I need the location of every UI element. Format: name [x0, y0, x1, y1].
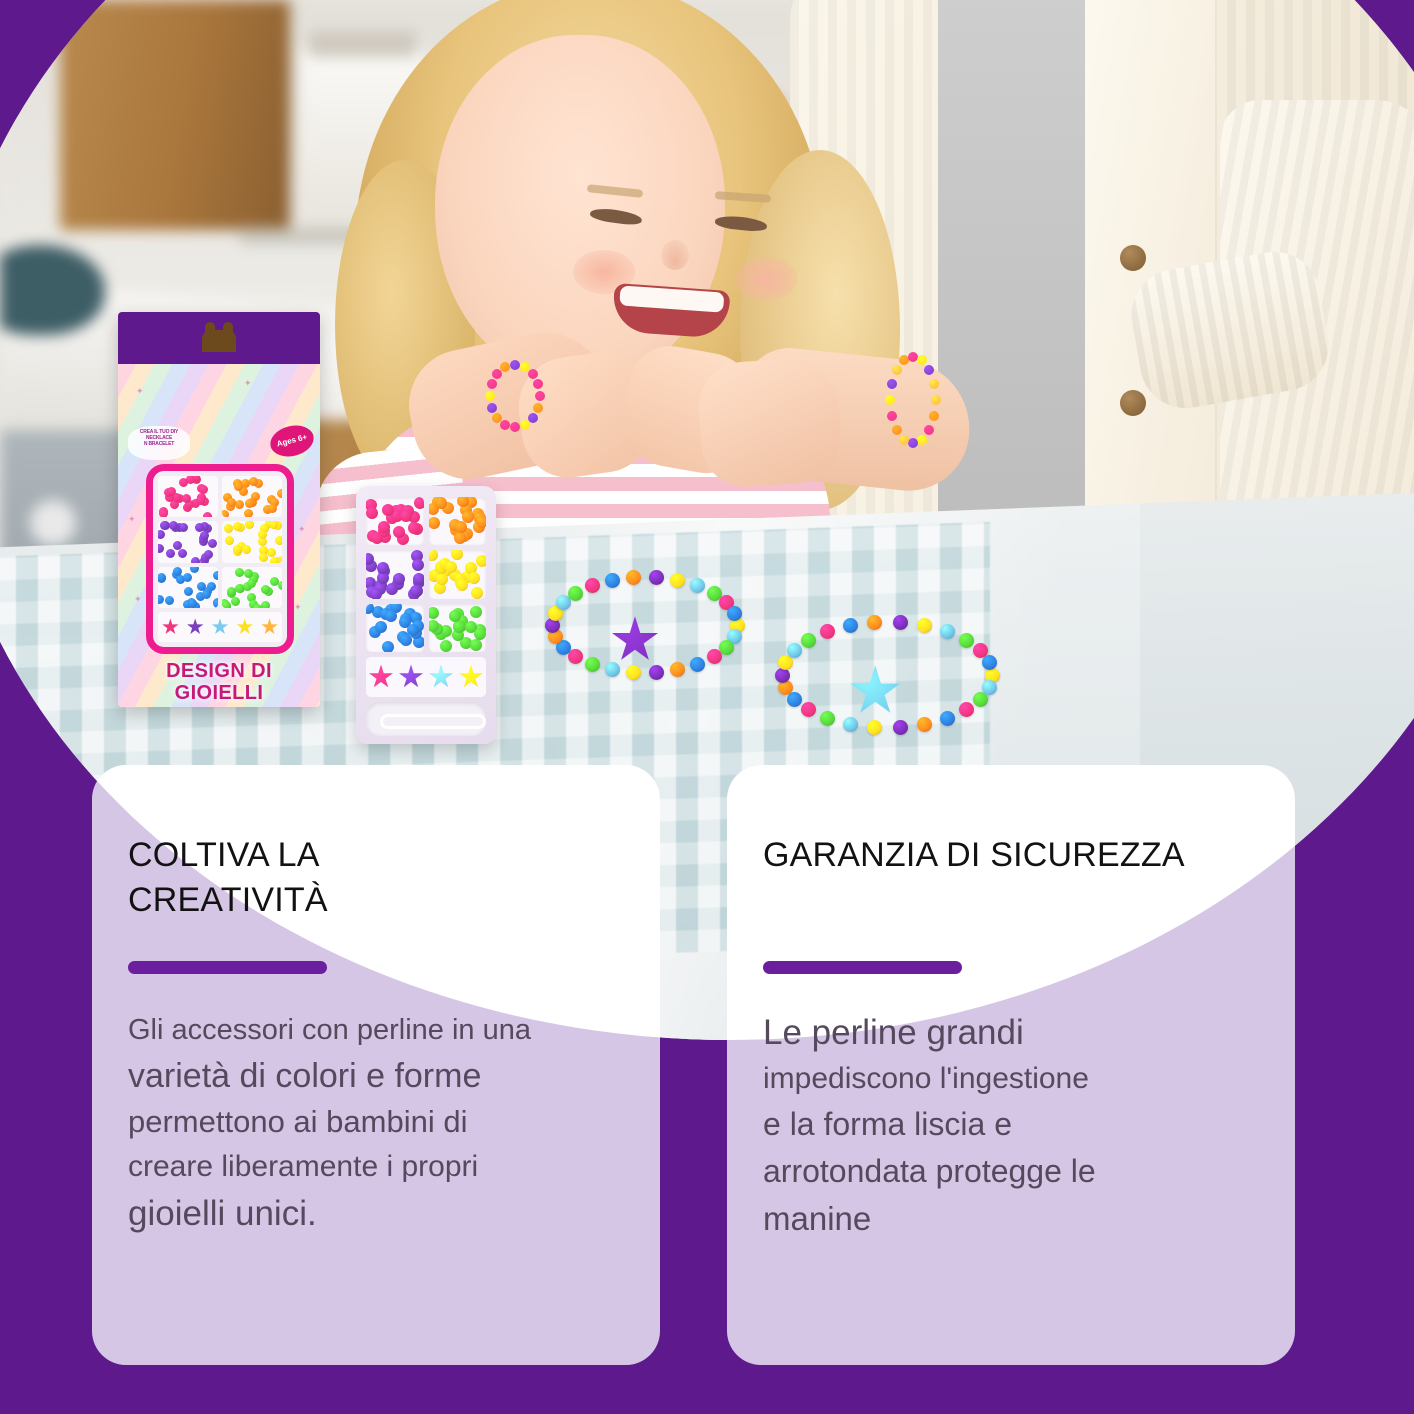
card-body-line: impediscono l'ingestione	[763, 1057, 1259, 1101]
card-title-creativity: COLTIVA LA CREATIVITÀ	[128, 833, 624, 923]
wrist-bead	[887, 379, 897, 389]
wrist-bead	[487, 379, 497, 389]
wrist-bead	[485, 391, 495, 401]
bracelet-bead	[719, 640, 734, 655]
card-accent-rule	[763, 961, 962, 974]
bracelet-bead	[982, 655, 997, 670]
bead-compartment	[366, 550, 424, 598]
bracelet-bead	[893, 615, 908, 630]
bracelet-bead	[626, 570, 641, 585]
bracelet-bead	[867, 720, 882, 735]
package-bead-cell	[158, 567, 218, 608]
bracelet-bead	[605, 573, 620, 588]
card-body-line: Le perline grandi	[763, 1008, 1259, 1057]
bracelet-bead	[787, 692, 802, 707]
card-accent-rule	[128, 961, 327, 974]
wrist-bead	[917, 435, 927, 445]
wrist-bead	[533, 403, 543, 413]
bracelet-bead	[959, 633, 974, 648]
bracelet-bead	[585, 578, 600, 593]
card-body-line: manine	[763, 1195, 1259, 1243]
card-title-safety: GARANZIA DI SICUREZZA	[763, 833, 1259, 878]
card-body-line: gioielli unici.	[128, 1189, 624, 1238]
card-body-line: Gli accessori con perline in una	[128, 1008, 624, 1052]
bracelet-bead	[670, 573, 685, 588]
bracelet-star-bead	[849, 665, 901, 717]
wrist-bead	[535, 391, 545, 401]
package-title: DESIGN DI GIOIELLI	[118, 660, 320, 705]
bracelet-purple-star	[545, 570, 745, 680]
product-package: ✦ ✦ ✦ ✦ ✦ ✦ ✦ ✦ CREA IL TUO DIY NECKLACE…	[118, 312, 320, 707]
card-body-line: permettono ai bambini di	[128, 1100, 624, 1145]
bracelet-bead	[585, 657, 600, 672]
star-bead-icon	[236, 618, 253, 635]
bracelet-bead	[787, 643, 802, 658]
bracelet-bead	[775, 668, 790, 683]
bracelet-bead	[707, 649, 722, 664]
adult-wrist-bracelet	[885, 352, 941, 448]
bracelet-bead	[690, 578, 705, 593]
bracelet-bead	[568, 649, 583, 664]
wrist-bead	[500, 420, 510, 430]
package-bead-cell	[158, 521, 218, 562]
bracelet-bead	[801, 633, 816, 648]
package-bead-cell	[222, 476, 282, 517]
package-star-shapes	[158, 612, 282, 642]
wrist-bead	[510, 422, 520, 432]
bracelet-bead	[973, 692, 988, 707]
bracelet-bead	[626, 665, 641, 680]
package-artwork: ✦ ✦ ✦ ✦ ✦ ✦ ✦ ✦ CREA IL TUO DIY NECKLACE…	[118, 364, 320, 707]
wrist-bead	[929, 411, 939, 421]
bracelet-bead	[959, 702, 974, 717]
bracelet-bead	[670, 662, 685, 677]
bracelet-bead	[605, 662, 620, 677]
adult-hand	[696, 355, 844, 489]
card-body-safety: Le perline grandi impediscono l'ingestio…	[763, 1008, 1259, 1242]
wrist-bead	[887, 411, 897, 421]
bracelet-star-bead	[611, 616, 659, 664]
bracelet-bead	[820, 711, 835, 726]
wrist-bead	[924, 425, 934, 435]
bracelet-bead	[843, 717, 858, 732]
wrist-bead	[899, 435, 909, 445]
package-diy-line3: N BRACELET	[128, 442, 190, 448]
star-bead-icon	[429, 664, 454, 689]
star-bead-icon	[261, 618, 278, 635]
bracelet-bead	[940, 624, 955, 639]
feature-card-creativity: COLTIVA LA CREATIVITÀ Gli accessori con …	[92, 765, 660, 1365]
card-title-line: COLTIVA LA	[128, 833, 624, 878]
bracelet-blue-star	[775, 615, 1000, 735]
wrist-bead	[528, 369, 538, 379]
bead-compartment	[429, 550, 487, 598]
star-bead-icon	[187, 618, 204, 635]
wrist-bead	[533, 379, 543, 389]
wrist-bead	[931, 395, 941, 405]
wrist-bead	[892, 425, 902, 435]
bracelet-bead	[649, 570, 664, 585]
wrist-bead	[917, 355, 927, 365]
bracelet-bead	[893, 720, 908, 735]
bracelet-bead	[843, 618, 858, 633]
child-wrist-bracelet	[485, 360, 545, 432]
wrist-bead	[908, 438, 918, 448]
package-age-badge: Ages 6+	[267, 421, 317, 461]
bracelet-bead	[649, 665, 664, 680]
package-header	[118, 312, 320, 364]
package-bead-cell	[158, 476, 218, 517]
package-bead-tray	[146, 464, 294, 654]
package-diy-badge: CREA IL TUO DIY NECKLACE N BRACELET	[128, 426, 190, 460]
feature-card-safety: GARANZIA DI SICUREZZA Le perline grandi …	[727, 765, 1295, 1365]
card-body-line: creare liberamente i propri	[128, 1145, 624, 1189]
star-bead-icon	[369, 664, 394, 689]
promo-canvas: ✦ ✦ ✦ ✦ ✦ ✦ ✦ ✦ CREA IL TUO DIY NECKLACE…	[0, 0, 1414, 1414]
bead-storage-case	[356, 486, 496, 744]
card-body-line: e la forma liscia e	[763, 1101, 1259, 1148]
bracelet-bead	[940, 711, 955, 726]
bead-compartment	[429, 604, 487, 652]
wrist-bead	[500, 362, 510, 372]
wrist-bead	[520, 420, 530, 430]
bracelet-bead	[917, 717, 932, 732]
bracelet-bead	[917, 618, 932, 633]
star-bead-icon	[459, 664, 484, 689]
wrist-bead	[885, 395, 895, 405]
card-title-line: CREATIVITÀ	[128, 878, 624, 923]
bracelet-bead	[690, 657, 705, 672]
wrist-bead	[892, 365, 902, 375]
bracelet-bead	[801, 702, 816, 717]
wrist-bead	[510, 360, 520, 370]
hang-hook-icon	[202, 330, 236, 352]
wrist-bead	[924, 365, 934, 375]
elastic-cord-compartment	[366, 702, 486, 736]
star-bead-icon	[211, 618, 228, 635]
package-bead-cell	[222, 567, 282, 608]
card-body-creativity: Gli accessori con perline in una varietà…	[128, 1008, 624, 1239]
star-bead-icon	[399, 664, 424, 689]
bracelet-bead	[867, 615, 882, 630]
star-bead-icon	[162, 618, 179, 635]
package-title-line1: DESIGN DI	[118, 660, 320, 682]
wrist-bead	[487, 403, 497, 413]
package-bead-cell	[222, 521, 282, 562]
card-body-line: arrotondata protegge le	[763, 1148, 1259, 1195]
package-title-line2: GIOIELLI	[118, 682, 320, 704]
bracelet-bead	[820, 624, 835, 639]
wrist-bead	[929, 379, 939, 389]
star-bead-compartment	[366, 657, 486, 697]
card-title-line: GARANZIA DI SICUREZZA	[763, 833, 1259, 878]
bead-compartment	[429, 497, 487, 545]
card-body-line: varietà di colori e forme	[128, 1052, 624, 1100]
bead-compartment	[366, 604, 424, 652]
bead-compartment	[366, 497, 424, 545]
bracelet-bead	[568, 586, 583, 601]
